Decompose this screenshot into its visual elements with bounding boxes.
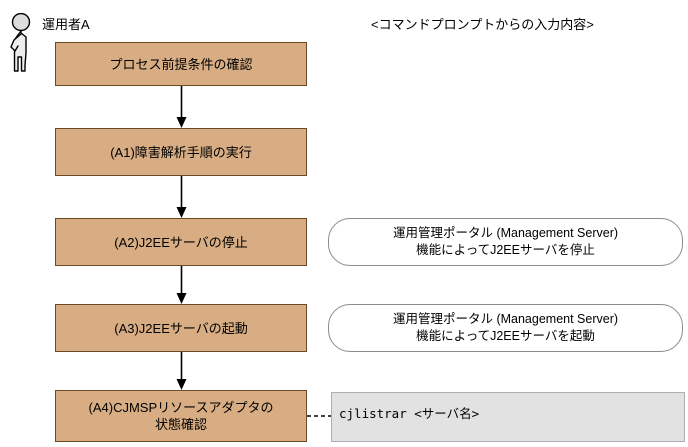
process-box-step-2[interactable]: (A1)障害解析手順の実行 bbox=[55, 128, 307, 176]
note-start-j2ee-server: 運用管理ポータル (Management Server) 機能によってJ2EEサ… bbox=[328, 304, 683, 352]
process-box-step-1[interactable]: プロセス前提条件の確認 bbox=[55, 42, 307, 86]
person-actor-icon bbox=[4, 13, 42, 75]
arrow-step3-to-step4 bbox=[175, 266, 188, 304]
arrow-step2-to-step3 bbox=[175, 176, 188, 218]
command-text-cjlistrar: cjlistrar <サーバ名> bbox=[339, 406, 479, 422]
actor-label: 運用者A bbox=[42, 17, 90, 33]
column-title-command-prompt: <コマンドプロンプトからの入力内容> bbox=[371, 17, 594, 33]
process-box-step-5[interactable]: (A4)CJMSPリソースアダプタの 状態確認 bbox=[55, 390, 307, 442]
flow-diagram-canvas: 運用者A <コマンドプロンプトからの入力内容> プロセス前提条件の確認 (A1)… bbox=[0, 0, 688, 447]
dashed-connector-step5-to-command bbox=[307, 415, 332, 417]
arrow-step4-to-step5 bbox=[175, 352, 188, 390]
arrow-step1-to-step2 bbox=[175, 86, 188, 128]
process-box-step-3[interactable]: (A2)J2EEサーバの停止 bbox=[55, 218, 307, 266]
note-stop-j2ee-server: 運用管理ポータル (Management Server) 機能によってJ2EEサ… bbox=[328, 218, 683, 266]
process-box-step-4[interactable]: (A3)J2EEサーバの起動 bbox=[55, 304, 307, 352]
